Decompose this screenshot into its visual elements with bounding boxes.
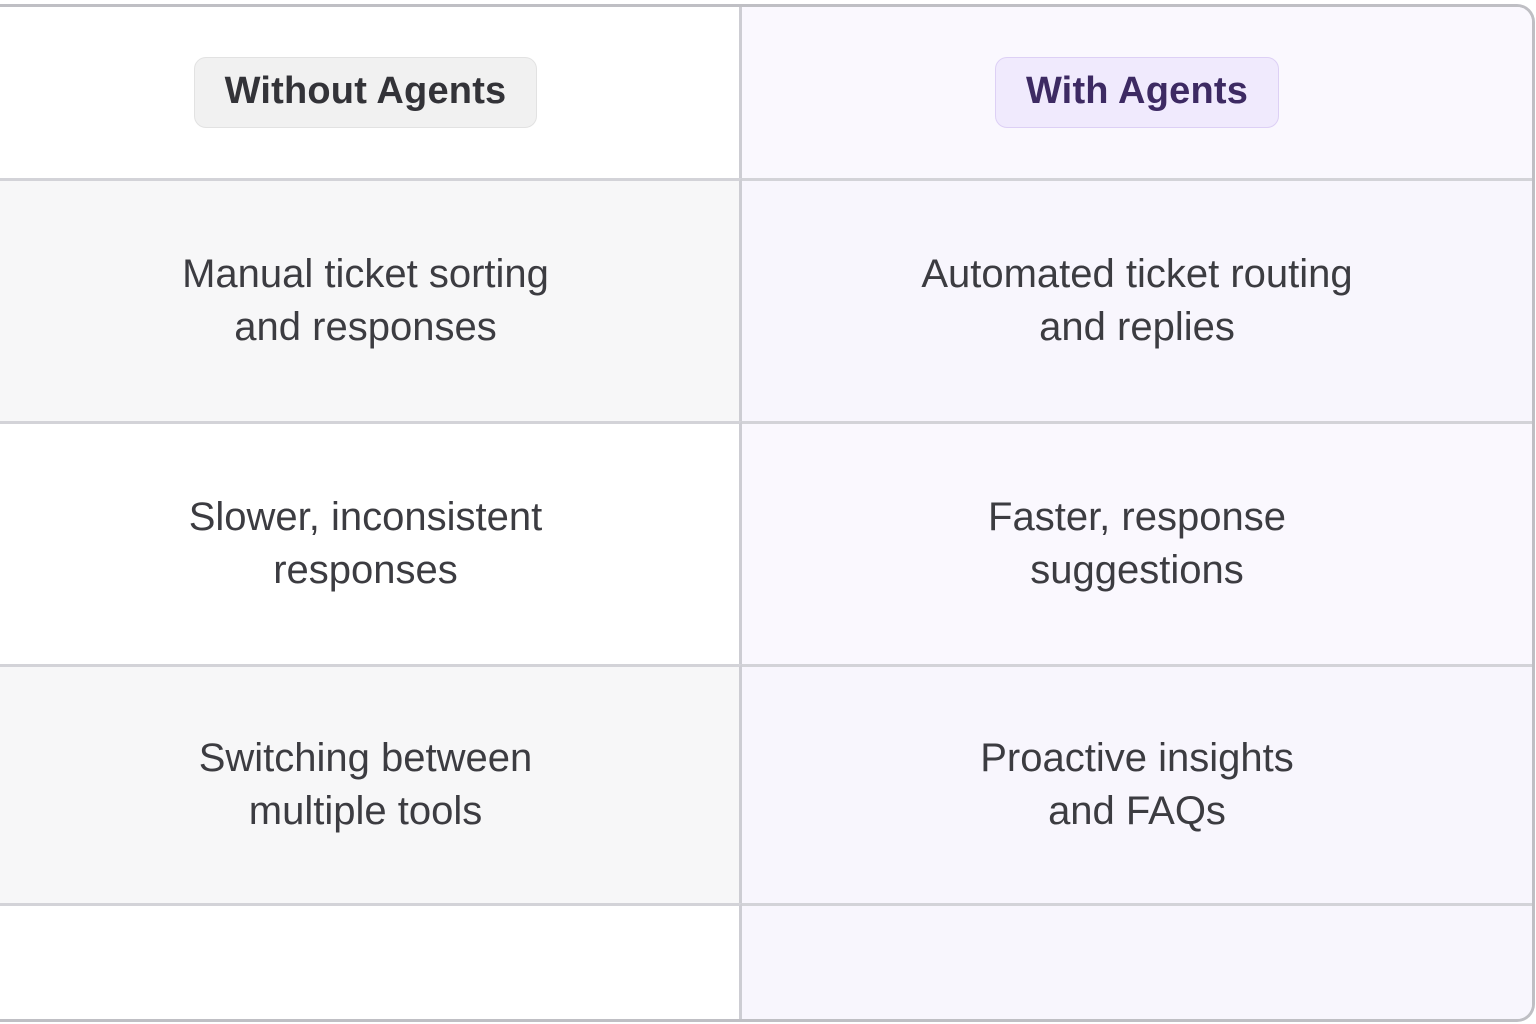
cell-with-agents-1: Automated ticket routing and replies [742, 178, 1532, 421]
table-row: Manual ticket sorting and responses Auto… [0, 178, 1532, 421]
cell-without-agents-3: Switching between multiple tools [0, 664, 742, 903]
cell-line-1: Automated ticket routing [742, 248, 1532, 301]
cell-line-1: Slower, inconsistent [0, 491, 739, 544]
table-row: Switching between multiple tools Proacti… [0, 664, 1532, 903]
cell-line-1: Proactive insights [742, 732, 1532, 785]
cell-line-2: and FAQs [742, 785, 1532, 838]
table-row [0, 903, 1532, 1019]
cell-line-1: Faster, response [742, 491, 1532, 544]
cell-line-2: and replies [742, 301, 1532, 354]
header-cell-with-agents: With Agents [742, 7, 1532, 178]
cell-line-1: Switching between [0, 732, 739, 785]
cell-without-agents-4 [0, 903, 742, 1019]
comparison-table: Without Agents With Agents Manual ticket… [0, 4, 1535, 1022]
cell-line-2: responses [0, 544, 739, 597]
cell-line-2: multiple tools [0, 785, 739, 838]
comparison-view: Without Agents With Agents Manual ticket… [0, 0, 1536, 1024]
header-cell-without-agents: Without Agents [0, 7, 742, 178]
cell-line-2: suggestions [742, 544, 1532, 597]
cell-line-2: and responses [0, 301, 739, 354]
cell-with-agents-3: Proactive insights and FAQs [742, 664, 1532, 903]
table-header-row: Without Agents With Agents [0, 7, 1532, 178]
cell-line-1: Manual ticket sorting [0, 248, 739, 301]
cell-without-agents-1: Manual ticket sorting and responses [0, 178, 742, 421]
table-row: Slower, inconsistent responses Faster, r… [0, 421, 1532, 664]
cell-without-agents-2: Slower, inconsistent responses [0, 421, 742, 664]
cell-with-agents-2: Faster, response suggestions [742, 421, 1532, 664]
column-badge-without-agents[interactable]: Without Agents [194, 57, 538, 129]
cell-with-agents-4 [742, 903, 1532, 1019]
column-badge-with-agents[interactable]: With Agents [995, 57, 1279, 129]
